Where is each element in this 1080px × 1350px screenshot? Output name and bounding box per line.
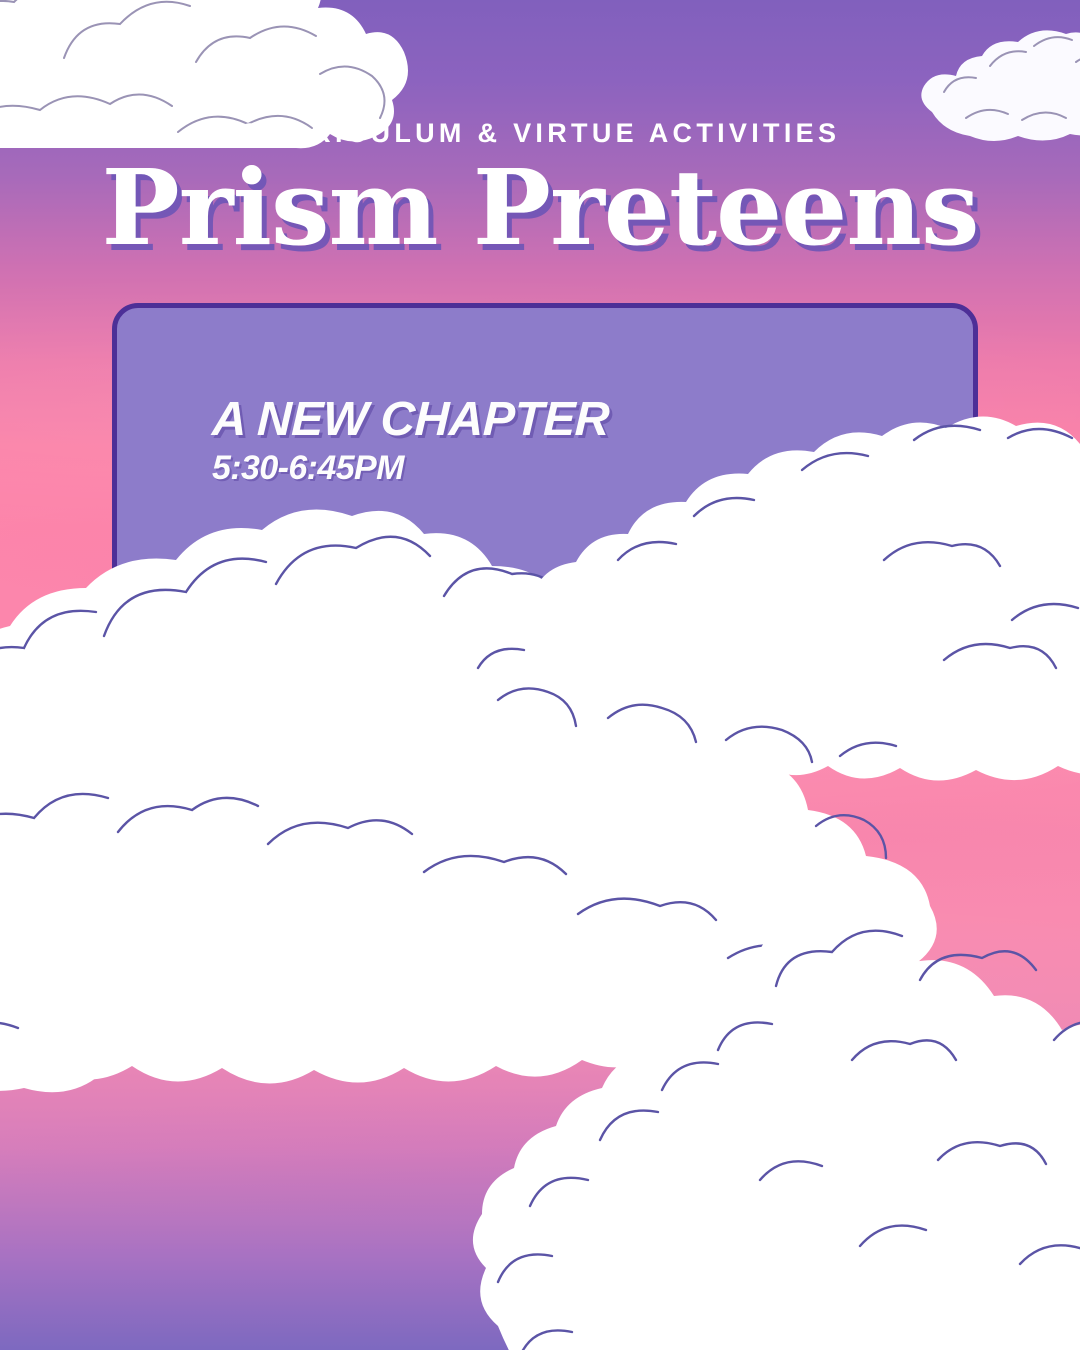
event-info-card: A NEW CHAPTER 5:30-6:45PM 8/21 — [112, 303, 978, 665]
event-name: A NEW CHAPTER — [211, 392, 610, 447]
poster-kicker: CURRICULUM & VIRTUE ACTIVITIES — [0, 118, 1080, 149]
poster-canvas: CURRICULUM & VIRTUE ACTIVITIES Prism Pre… — [0, 0, 1080, 1350]
poster-title: Prism Preteens — [0, 154, 1080, 262]
event-date: 8/21 — [799, 460, 885, 510]
event-info-card-content: A NEW CHAPTER 5:30-6:45PM 8/21 — [117, 308, 973, 660]
